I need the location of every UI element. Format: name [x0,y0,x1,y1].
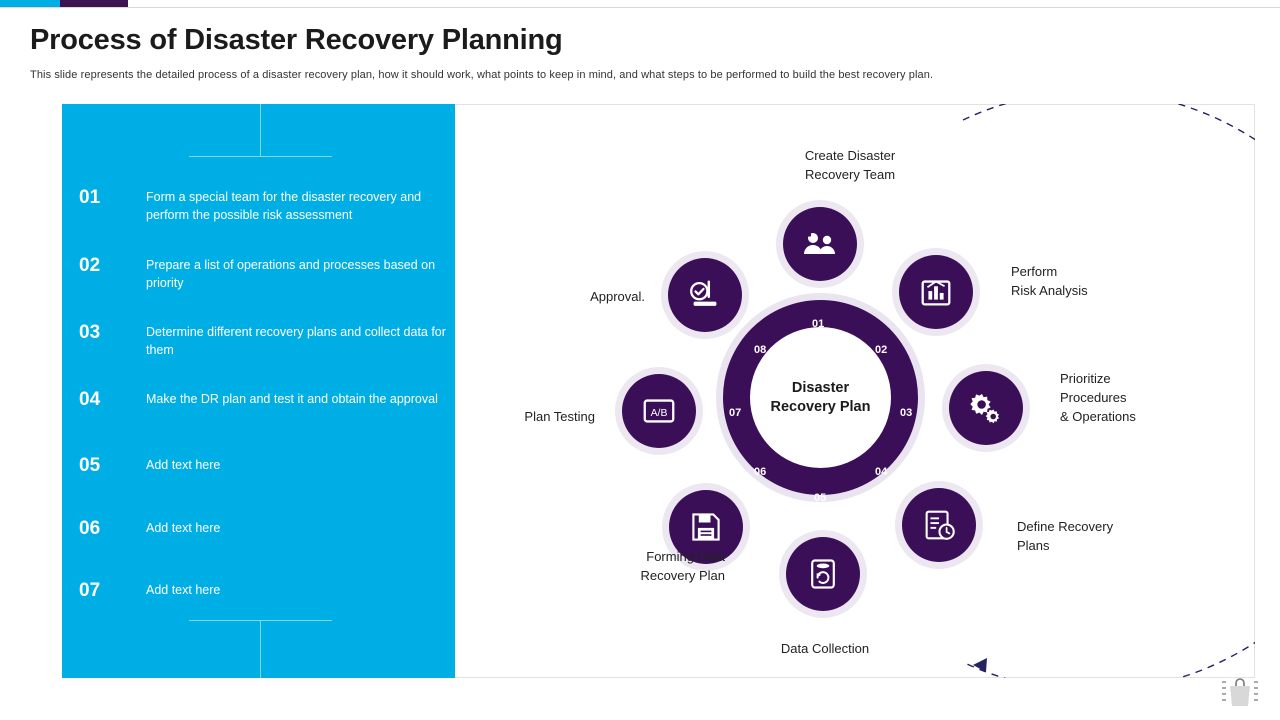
node-plan-testing[interactable]: A/B [622,374,696,448]
cycle-diagram: Disaster Recovery Plan 01 02 03 04 05 06… [455,104,1255,678]
approval-stamp-icon [686,276,724,314]
step-item-02[interactable]: 02 Prepare a list of operations and proc… [62,256,455,292]
step-text: Add text here [146,456,446,474]
node-label-prioritize-procedures-operations: Prioritize Procedures & Operations [1060,369,1136,426]
shopping-bag-icon [1212,672,1266,712]
step-number: 07 [62,581,146,601]
node-data-collection[interactable] [786,537,860,611]
node-label-perform-risk-analysis: Perform Risk Analysis [1011,262,1088,300]
top-divider [0,7,1280,8]
node-perform-risk-analysis[interactable] [899,255,973,329]
ring-number-01: 01 [812,318,824,330]
step-item-01[interactable]: 01 Form a special team for the disaster … [62,188,455,224]
step-number: 02 [62,256,146,276]
node-label-define-recovery-plans: Define Recovery Plans [1017,517,1113,555]
step-item-07[interactable]: 07 Add text here [62,581,455,601]
top-accent-bar-cyan [0,0,60,7]
step-item-06[interactable]: 06 Add text here [62,519,455,539]
ring-number-04: 04 [875,466,887,478]
node-label-forming-data-recovery-plan: Forming Data Recovery Plan [515,547,725,585]
center-title: Disaster Recovery Plan [771,379,871,417]
ring-number-06: 06 [754,466,766,478]
node-label-create-disaster-recovery-team: Create Disaster Recovery Team [765,146,935,184]
data-restore-icon [805,556,841,592]
node-label-approval: Approval. [515,287,645,306]
steps-panel: 01 Form a special team for the disaster … [62,104,455,678]
ring-number-08: 08 [754,344,766,356]
clipboard-clock-icon [920,506,958,544]
center-title-line2: Recovery Plan [771,399,871,415]
people-icon [800,224,840,264]
center-title-line1: Disaster [792,380,849,396]
node-approval[interactable] [668,258,742,332]
gears-icon [966,388,1006,428]
step-text: Add text here [146,581,446,599]
step-text: Form a special team for the disaster rec… [146,188,446,224]
node-label-data-collection: Data Collection [760,639,890,658]
svg-text:A/B: A/B [651,408,668,419]
node-define-recovery-plans[interactable] [902,488,976,562]
step-number: 04 [62,390,146,410]
step-number: 03 [62,323,146,343]
floppy-disk-icon [688,509,724,545]
step-number: 06 [62,519,146,539]
step-number: 05 [62,456,146,476]
panel-decor-line-top-vertical [260,104,261,156]
ring-number-05: 05 [814,492,826,504]
ring-number-02: 02 [875,344,887,356]
bar-chart-icon [917,273,955,311]
top-accent-bar-purple [60,0,128,7]
center-ring-inner: Disaster Recovery Plan [750,327,891,468]
step-text: Determine different recovery plans and c… [146,323,446,359]
step-item-03[interactable]: 03 Determine different recovery plans an… [62,323,455,359]
ab-test-icon: A/B [640,392,678,430]
panel-decor-line-top [189,156,332,157]
step-item-04[interactable]: 04 Make the DR plan and test it and obta… [62,390,455,410]
step-text: Make the DR plan and test it and obtain … [146,390,446,408]
page-title: Process of Disaster Recovery Planning [30,24,563,57]
panel-decor-line-bottom-vertical [260,620,261,678]
step-number: 01 [62,188,146,208]
step-text: Prepare a list of operations and process… [146,256,446,292]
node-label-plan-testing: Plan Testing [475,407,595,426]
node-prioritize-procedures-operations[interactable] [949,371,1023,445]
ring-number-03: 03 [900,407,912,419]
ring-number-07: 07 [729,407,741,419]
node-create-disaster-recovery-team[interactable] [783,207,857,281]
step-item-05[interactable]: 05 Add text here [62,456,455,476]
page-subtitle: This slide represents the detailed proce… [30,69,1090,81]
step-text: Add text here [146,519,446,537]
